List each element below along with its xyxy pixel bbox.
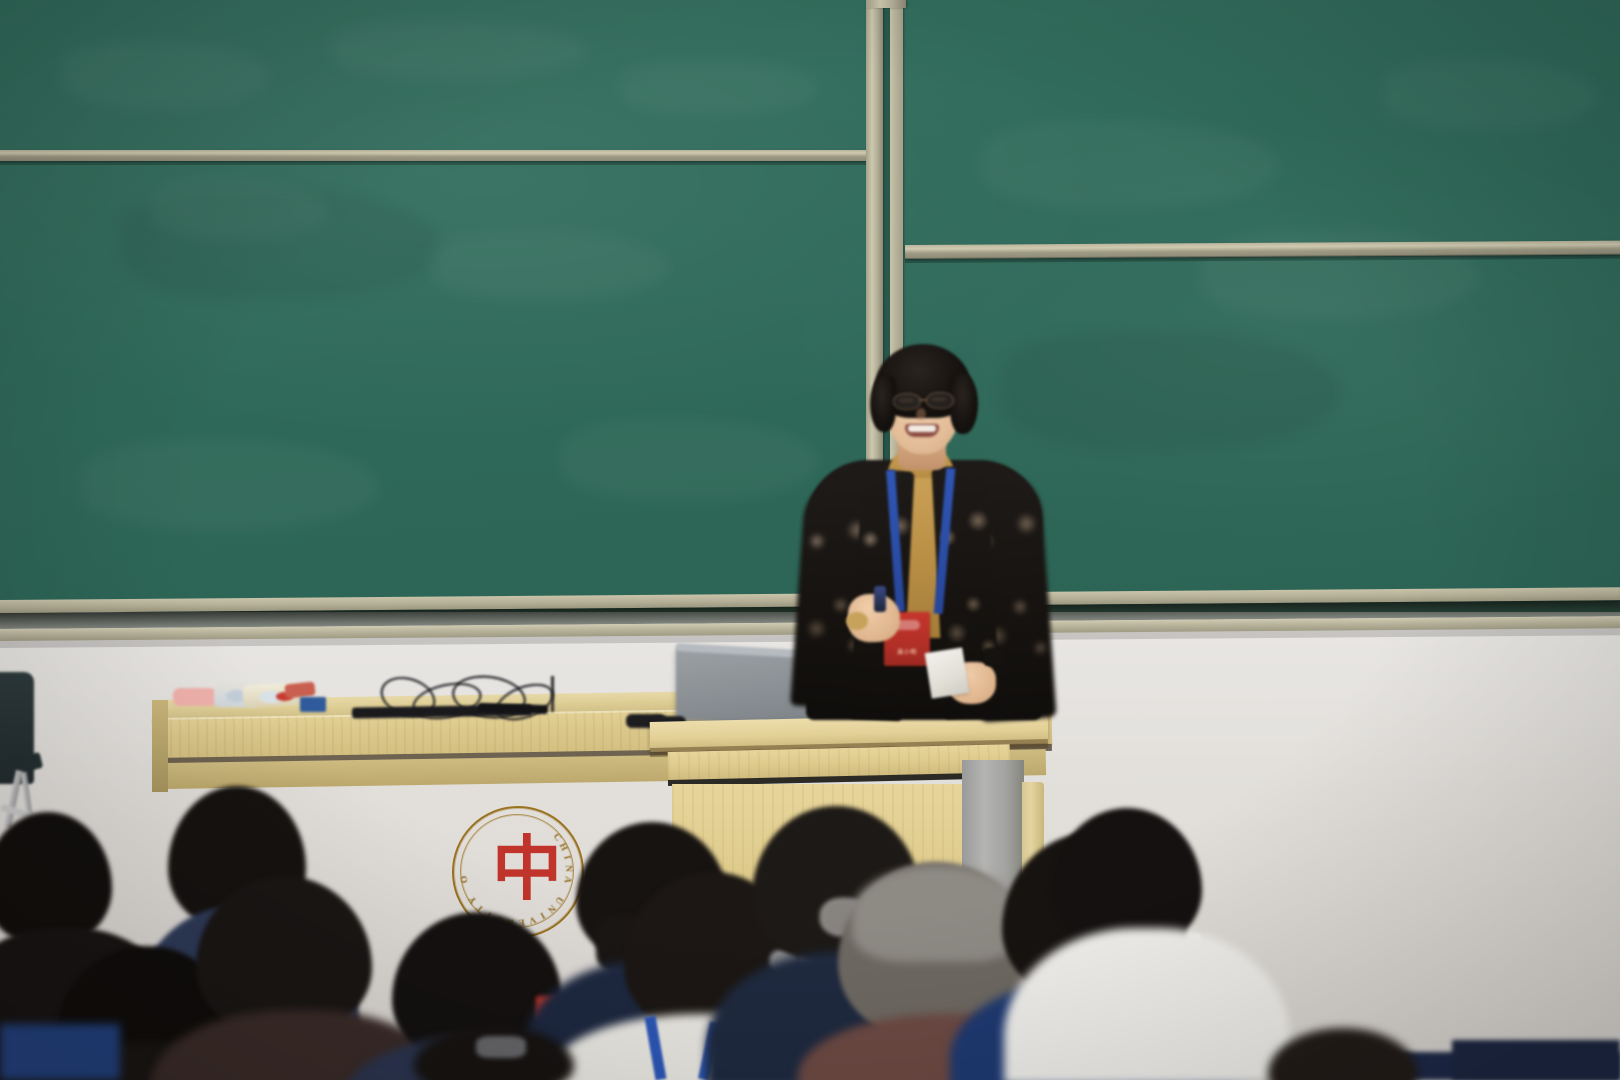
chalk-smudge xyxy=(1380,60,1600,130)
audience-hair-grey-highlight xyxy=(852,866,1022,962)
logo-arc-letter: I xyxy=(561,855,572,861)
desk-end-cap xyxy=(152,700,168,792)
speaker-right-eye xyxy=(932,398,946,401)
speaker-clicker xyxy=(874,586,886,612)
speaker-paper-notes xyxy=(925,647,970,698)
speaker-wrist-bracelet xyxy=(846,612,868,630)
chalk-smudge xyxy=(560,420,820,500)
logo-arc-letter: Y xyxy=(467,894,479,906)
chalk-smudge xyxy=(330,20,590,80)
speaker-left-eye xyxy=(899,399,913,402)
seat-back-far-right xyxy=(1452,1040,1620,1080)
chalk-smudge xyxy=(1000,330,1340,450)
speaker-hair-left-side xyxy=(870,376,896,432)
logo-arc-letter: I xyxy=(538,910,547,921)
speaker-glasses-bridge xyxy=(919,399,927,401)
board-frame-corner xyxy=(866,0,906,8)
chalk-smudge xyxy=(150,180,330,240)
audience-glasses xyxy=(476,1036,526,1058)
board-rail-shadow xyxy=(0,161,872,165)
logo-arc-letter: V xyxy=(527,914,537,926)
speaker-cuff xyxy=(984,648,1004,666)
speaker-teeth xyxy=(908,425,936,432)
chalk-smudge xyxy=(430,230,670,300)
microphone-stand xyxy=(551,676,554,712)
badge-name-text: 高小明 xyxy=(884,650,930,657)
desk-item-chalk-box xyxy=(173,688,217,706)
university-logo-glyph: 中 xyxy=(492,834,546,908)
logo-arc-letter: A xyxy=(561,875,572,884)
chalk-smudge xyxy=(80,440,380,530)
logo-arc-letter: O xyxy=(459,874,470,884)
audience-shoulders xyxy=(0,1024,120,1080)
board-rail-horizontal-left xyxy=(0,150,872,161)
chalk-smudge xyxy=(980,120,1280,210)
speaker-nose xyxy=(916,408,926,420)
lecture-hall-photo: CHINA UNIVERSITY O 中 高小明 xyxy=(0,0,1620,1080)
logo-arc-letter: N xyxy=(563,865,573,873)
chalk-smudge xyxy=(60,40,270,110)
desk-item-blue-box xyxy=(300,697,326,712)
speaker-hair-right-side xyxy=(950,374,978,434)
chalk-smudge xyxy=(620,60,820,115)
